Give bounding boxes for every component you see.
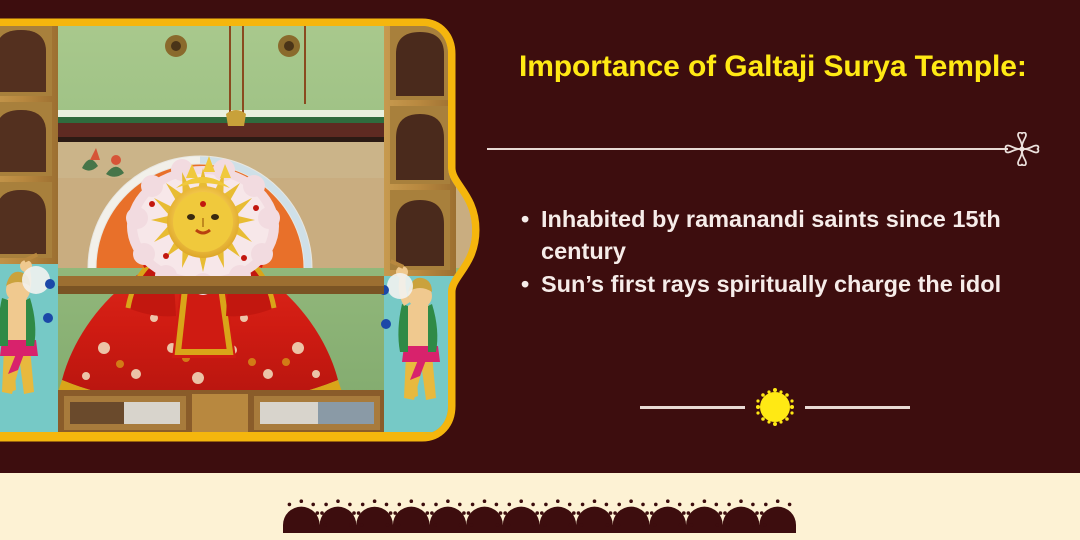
slide-root: Importance of Galtaji Surya Temple: • In… — [0, 0, 1080, 540]
page-title: Importance of Galtaji Surya Temple: — [519, 48, 1039, 86]
scallop-border — [283, 489, 796, 533]
list-item: • Inhabited by ramanandi saints since 15… — [513, 203, 1028, 267]
bullet-dot-icon: • — [521, 268, 529, 300]
sun-divider — [640, 388, 910, 426]
divider-line — [487, 148, 1008, 150]
bullet-list-items: • Inhabited by ramanandi saints since 15… — [513, 203, 1028, 301]
temple-photo-frame — [0, 18, 480, 443]
sun-divider-line-left — [640, 406, 745, 409]
knot-ornament-icon — [1004, 132, 1040, 166]
sun-divider-line-right — [805, 406, 910, 409]
list-item: • Sun’s first rays spiritually charge th… — [513, 268, 1028, 300]
bullet-list: • Inhabited by ramanandi saints since 15… — [513, 203, 1028, 302]
list-item-label: Inhabited by ramanandi saints since 15th… — [541, 206, 1001, 264]
bullet-dot-icon: • — [521, 203, 529, 235]
list-item-label: Sun’s first rays spiritually charge the … — [541, 271, 1001, 297]
sun-icon — [745, 388, 805, 426]
